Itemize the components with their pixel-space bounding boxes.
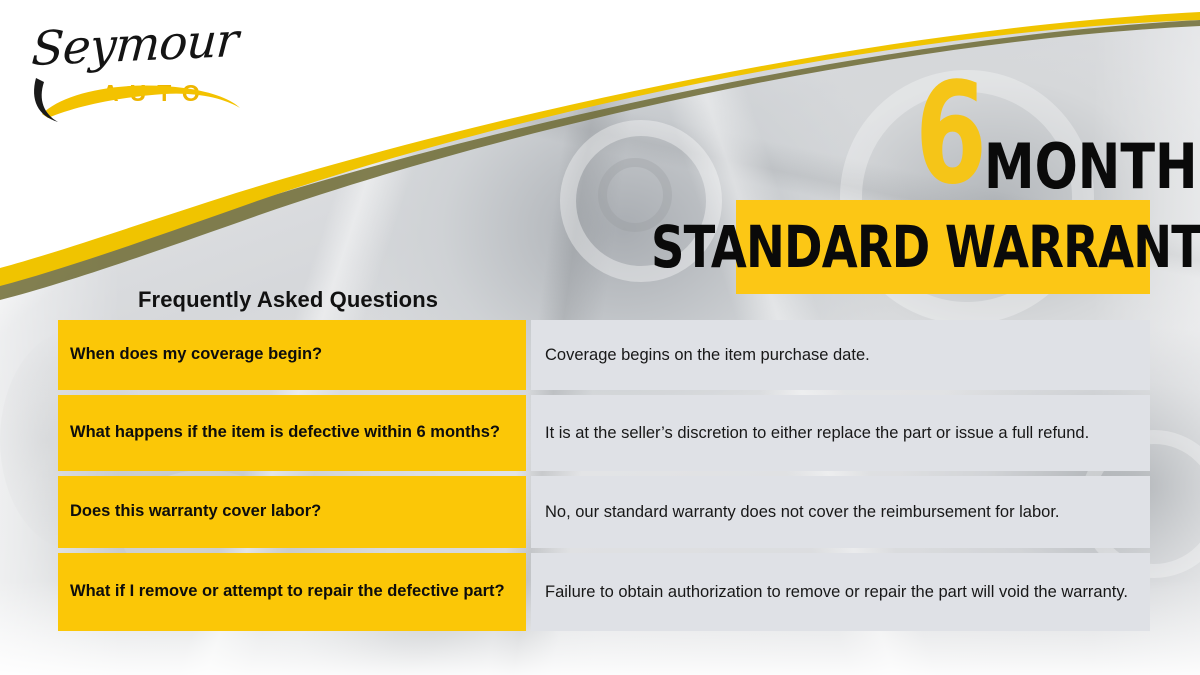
faq-question-text: What happens if the item is defective wi…	[70, 422, 500, 444]
faq-answer-cell: Coverage begins on the item purchase dat…	[531, 320, 1150, 390]
seymour-auto-logo[interactable]: Seymour AUTO	[24, 18, 254, 128]
duration-unit: MONTH	[984, 142, 1198, 193]
faq-answer-cell: It is at the seller’s discretion to eith…	[531, 395, 1150, 471]
faq-question-cell: What if I remove or attempt to repair th…	[58, 553, 526, 631]
faq-question-cell: Does this warranty cover labor?	[58, 476, 526, 548]
faq-question-cell: When does my coverage begin?	[58, 320, 526, 390]
faq-question-cell: What happens if the item is defective wi…	[58, 395, 526, 471]
faq-table: When does my coverage begin? Coverage be…	[58, 320, 1150, 631]
table-row: What if I remove or attempt to repair th…	[58, 553, 1150, 631]
warranty-slide: Seymour AUTO 6 MONTH STANDARD WARRANTY F…	[0, 0, 1200, 675]
faq-heading: Frequently Asked Questions	[138, 287, 438, 313]
standard-warranty-title: STANDARD WARRANTY	[651, 218, 1200, 276]
faq-question-text: What if I remove or attempt to repair th…	[70, 581, 505, 603]
table-row: When does my coverage begin? Coverage be…	[58, 320, 1150, 390]
faq-answer-text: Coverage begins on the item purchase dat…	[545, 344, 1136, 366]
faq-question-text: Does this warranty cover labor?	[70, 501, 321, 523]
standard-warranty-banner: STANDARD WARRANTY	[736, 200, 1150, 294]
duration-number: 6	[915, 75, 986, 195]
faq-answer-text: Failure to obtain authorization to remov…	[545, 581, 1136, 603]
faq-answer-text: It is at the seller’s discretion to eith…	[545, 422, 1136, 444]
faq-answer-cell: Failure to obtain authorization to remov…	[531, 553, 1150, 631]
logo-swoosh-icon	[24, 18, 254, 128]
faq-question-text: When does my coverage begin?	[70, 344, 322, 366]
faq-answer-text: No, our standard warranty does not cover…	[545, 501, 1136, 523]
table-row: What happens if the item is defective wi…	[58, 395, 1150, 471]
table-row: Does this warranty cover labor? No, our …	[58, 476, 1150, 548]
faq-answer-cell: No, our standard warranty does not cover…	[531, 476, 1150, 548]
duration-headline: 6 MONTH	[915, 70, 1200, 195]
